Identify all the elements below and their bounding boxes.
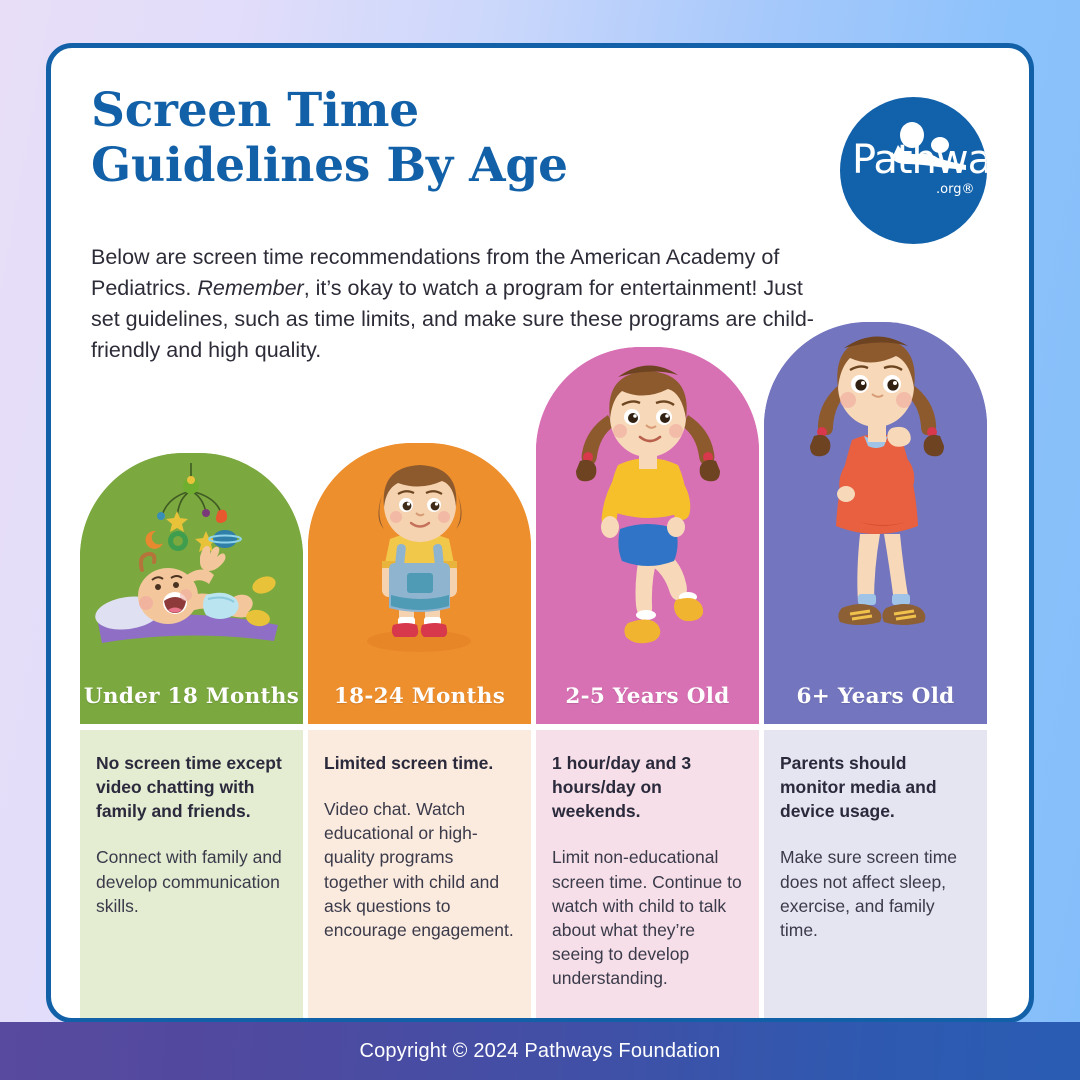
age-column-2-5-years: 2-5 Years Old 1 hour/day and 3 hours/day… — [536, 277, 759, 1023]
age-column-6-plus-years: 6+ Years Old Parents should monitor medi… — [764, 277, 987, 1023]
footer-bar: Copyright © 2024 Pathways Foundation — [0, 1022, 1080, 1080]
age-band-2-5-years: 2-5 Years Old — [536, 669, 759, 724]
age-columns: Under 18 Months No screen time except vi… — [80, 277, 1010, 1023]
age-desc-text: Limit non-educational screen time. Conti… — [552, 845, 743, 990]
age-band-under-18-months: Under 18 Months — [80, 669, 303, 724]
svg-text:.org®: .org® — [936, 182, 974, 197]
page-title-line-2: Guidelines By Age — [91, 138, 771, 193]
age-desc-text: Make sure screen time does not affect sl… — [780, 845, 971, 942]
age-column-18-24-months: 18-24 Months Limited screen time. Video … — [308, 277, 531, 1023]
age-lead-text: Limited screen time. — [324, 751, 515, 775]
illustration-girl-jumping — [536, 347, 759, 669]
age-lead-text: 1 hour/day and 3 hours/day on weekends. — [552, 751, 743, 823]
age-label: 2-5 Years Old — [565, 684, 729, 709]
svg-text:Pathways: Pathways — [852, 137, 987, 183]
age-band-18-24-months: 18-24 Months — [308, 669, 531, 724]
pathways-logo[interactable]: Pathways .org® — [840, 97, 987, 244]
age-lead-text: No screen time except video chatting wit… — [96, 751, 287, 823]
copyright-text: Copyright © 2024 Pathways Foundation — [359, 1040, 720, 1063]
infographic-root: Screen Time Guidelines By Age Below are … — [0, 0, 1080, 1080]
page-title-line-1: Screen Time — [91, 83, 771, 138]
age-column-under-18-months: Under 18 Months No screen time except vi… — [80, 277, 303, 1023]
illustration-girl-thinking — [764, 322, 987, 669]
age-label: Under 18 Months — [84, 684, 299, 709]
age-desc-text: Connect with family and develop communic… — [96, 845, 287, 917]
age-band-6-plus-years: 6+ Years Old — [764, 669, 987, 724]
content-card: Screen Time Guidelines By Age Below are … — [46, 43, 1034, 1023]
age-label: 18-24 Months — [334, 684, 505, 709]
page-title: Screen Time Guidelines By Age — [91, 83, 771, 194]
pathways-logo-graphic: Pathways .org® — [840, 97, 987, 244]
illustration-toddler-in-overalls — [308, 443, 531, 669]
age-lead-text: Parents should monitor media and device … — [780, 751, 971, 823]
age-desc-text: Video chat. Watch educational or high-qu… — [324, 797, 515, 942]
age-body-2-5-years: 1 hour/day and 3 hours/day on weekends. … — [536, 730, 759, 1023]
age-body-under-18-months: No screen time except video chatting wit… — [80, 730, 303, 1023]
illustration-baby-with-mobile — [80, 453, 303, 669]
age-label: 6+ Years Old — [797, 684, 955, 709]
age-body-18-24-months: Limited screen time. Video chat. Watch e… — [308, 730, 531, 1023]
age-body-6-plus-years: Parents should monitor media and device … — [764, 730, 987, 1023]
